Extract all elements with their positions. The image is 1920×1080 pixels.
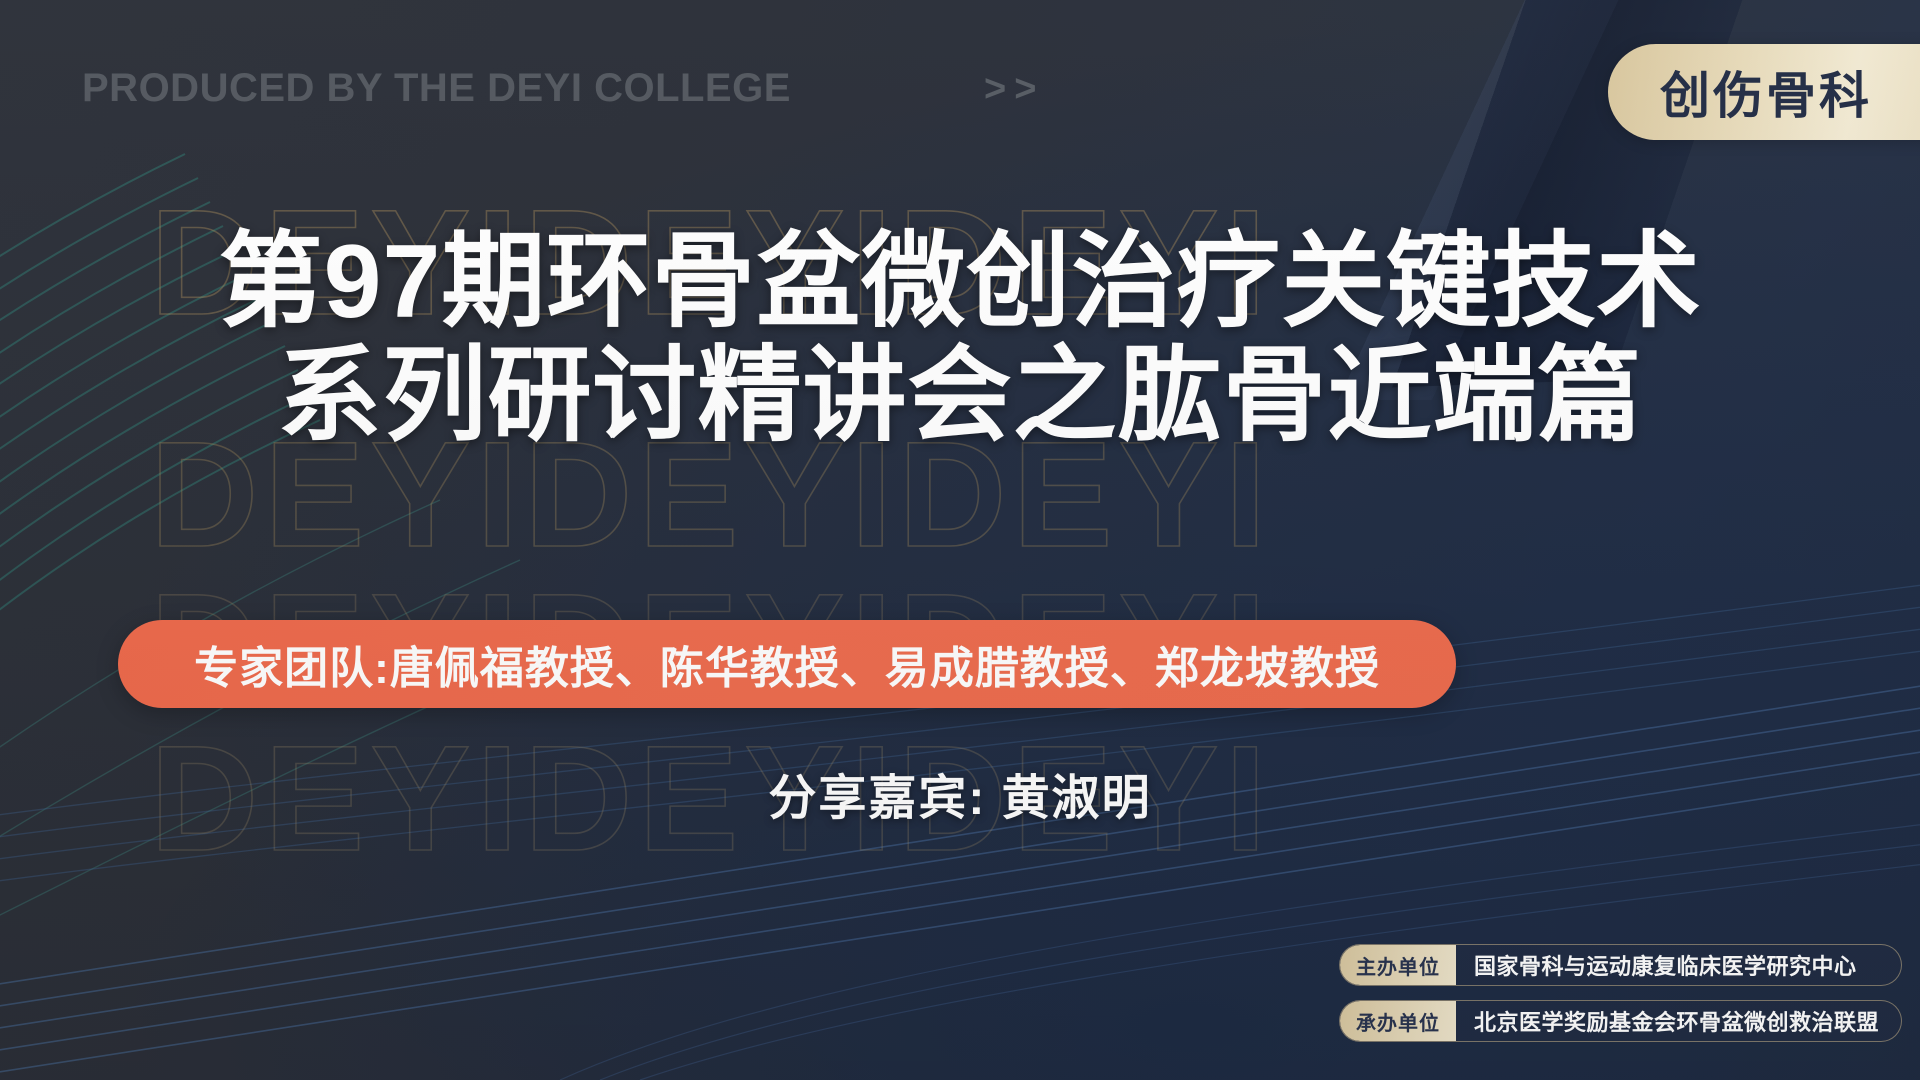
guest-speaker-text: 分享嘉宾: 黄淑明	[0, 758, 1920, 828]
organizer-row-coorganizer: 承办单位 北京医学奖励基金会环骨盆微创救治联盟	[1339, 1000, 1902, 1042]
category-badge-label: 创伤骨科	[1660, 56, 1872, 128]
expert-team-text: 专家团队:唐佩福教授、陈华教授、易成腊教授、郑龙坡教授	[194, 632, 1380, 696]
poster-canvas: DEYIDEYIDEYI DEYIDEYIDEYI DEYIDEYIDEYI D…	[0, 0, 1920, 1080]
organizer-row-host: 主办单位 国家骨科与运动康复临床医学研究中心	[1339, 944, 1902, 986]
producer-kicker-text: PRODUCED BY THE DEYI COLLEGE	[82, 66, 791, 111]
chevron-right-icon: >>	[984, 68, 1044, 111]
organizer-name-host: 国家骨科与运动康复临床医学研究中心	[1456, 949, 1879, 981]
organizer-tag-host: 主办单位	[1340, 945, 1456, 985]
page-title-line-1: 第97期环骨盆微创治疗关键技术	[0, 226, 1920, 338]
category-badge: 创伤骨科	[1608, 44, 1920, 140]
organizer-name-coorganizer: 北京医学奖励基金会环骨盆微创救治联盟	[1456, 1005, 1901, 1037]
expert-team-banner: 专家团队:唐佩福教授、陈华教授、易成腊教授、郑龙坡教授	[118, 620, 1456, 708]
page-title-line-2: 系列研讨精讲会之肱骨近端篇	[0, 340, 1920, 452]
organizer-tag-coorganizer: 承办单位	[1340, 1001, 1456, 1041]
organizer-list: 主办单位 国家骨科与运动康复临床医学研究中心 承办单位 北京医学奖励基金会环骨盆…	[1339, 944, 1902, 1042]
